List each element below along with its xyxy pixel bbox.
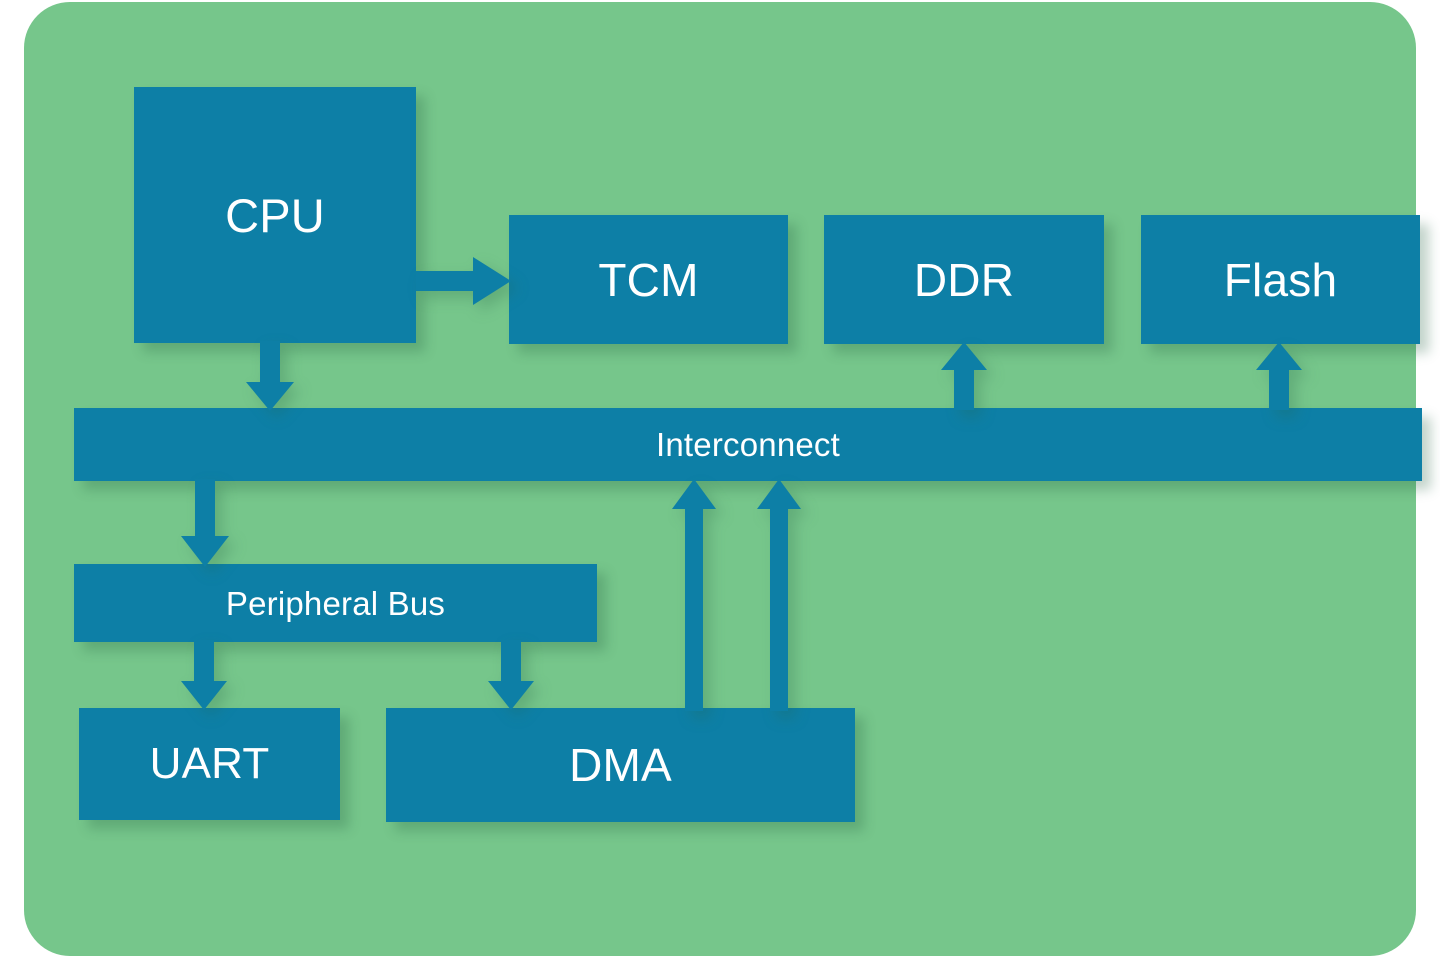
block-ddr-label: DDR xyxy=(914,257,1014,303)
block-dma-label: DMA xyxy=(569,742,672,788)
arrow-cpu-to-interconnect-icon xyxy=(246,341,294,411)
soc-diagram-card: CPU TCM DDR Flash Interconnect Periphera… xyxy=(24,2,1416,956)
block-uart[interactable]: UART xyxy=(79,708,340,820)
arrow-dma-to-interconnect-2-icon xyxy=(757,479,801,711)
block-peripheral-bus[interactable]: Peripheral Bus xyxy=(74,564,597,642)
block-tcm[interactable]: TCM xyxy=(509,215,788,344)
block-ddr[interactable]: DDR xyxy=(824,215,1104,344)
arrow-interconnect-to-peripheral-bus-icon xyxy=(181,479,229,567)
block-tcm-label: TCM xyxy=(598,257,698,303)
diagram-canvas: CPU TCM DDR Flash Interconnect Periphera… xyxy=(0,0,1440,966)
block-dma[interactable]: DMA xyxy=(386,708,855,822)
block-cpu-label: CPU xyxy=(225,192,325,239)
block-interconnect[interactable]: Interconnect xyxy=(74,408,1422,481)
block-flash[interactable]: Flash xyxy=(1141,215,1420,344)
block-peripheral-bus-label: Peripheral Bus xyxy=(226,587,445,620)
arrow-peripheral-bus-to-dma-icon xyxy=(488,640,534,710)
arrow-dma-to-interconnect-1-icon xyxy=(672,479,716,711)
arrow-interconnect-to-ddr-icon xyxy=(941,342,987,410)
block-uart-label: UART xyxy=(150,742,270,786)
block-cpu[interactable]: CPU xyxy=(134,87,416,343)
block-interconnect-label: Interconnect xyxy=(656,428,840,461)
arrow-peripheral-bus-to-uart-icon xyxy=(181,640,227,710)
arrow-cpu-to-tcm-icon xyxy=(416,257,511,305)
arrow-interconnect-to-flash-icon xyxy=(1256,342,1302,410)
block-flash-label: Flash xyxy=(1224,257,1337,303)
